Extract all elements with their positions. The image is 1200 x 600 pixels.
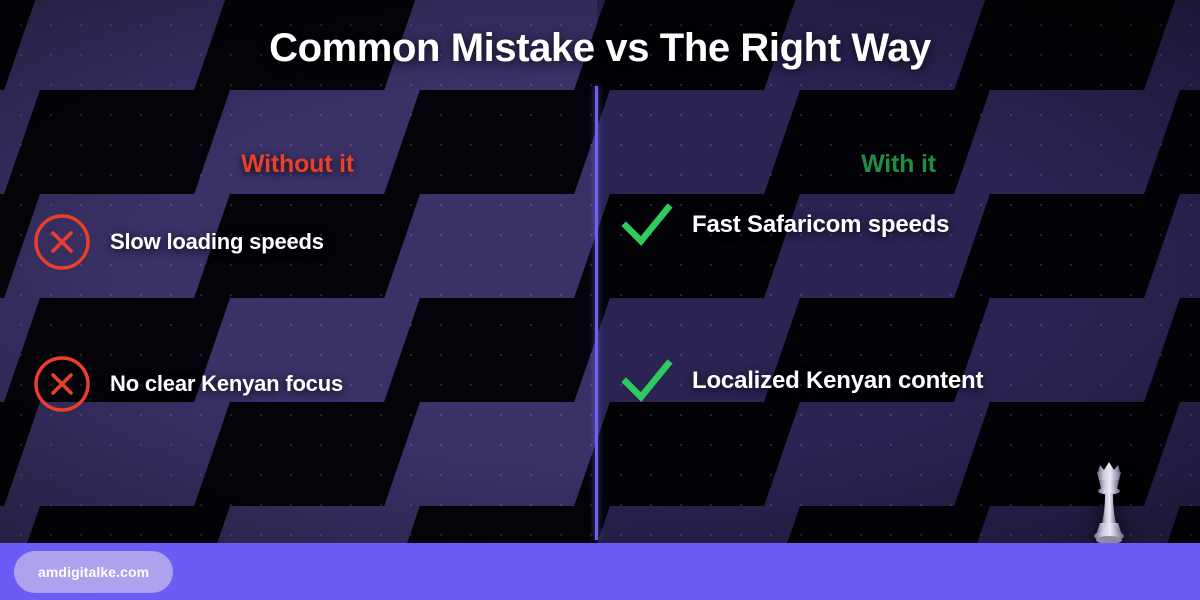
column-heading-without: Without it xyxy=(0,150,595,179)
page-title: Common Mistake vs The Right Way xyxy=(0,26,1200,71)
list-item: No clear Kenyan focus xyxy=(32,354,343,414)
board-square xyxy=(4,402,230,506)
footer-bar: amdigitalke.com xyxy=(0,543,1200,600)
brand-label: amdigitalke.com xyxy=(38,564,149,580)
list-item-label: Fast Safaricom speeds xyxy=(692,211,949,239)
board-square xyxy=(954,402,1180,506)
brand-pill[interactable]: amdigitalke.com xyxy=(14,551,173,593)
board-square xyxy=(384,402,610,506)
board-square xyxy=(954,298,1180,402)
column-heading-with: With it xyxy=(597,150,1200,179)
column-without: Without it xyxy=(0,150,595,179)
comparison-graphic: Common Mistake vs The Right Way Without … xyxy=(0,0,1200,600)
check-icon xyxy=(620,201,674,249)
board-square xyxy=(194,402,420,506)
board-square xyxy=(764,402,990,506)
circle-x-icon xyxy=(32,354,92,414)
chess-queen-icon xyxy=(1080,456,1138,548)
check-icon xyxy=(620,357,674,405)
list-item-label: Localized Kenyan content xyxy=(692,367,983,395)
board-square xyxy=(954,194,1180,298)
list-item: Fast Safaricom speeds xyxy=(620,201,949,249)
list-item-label: Slow loading speeds xyxy=(110,229,324,255)
board-square xyxy=(384,194,610,298)
board-square xyxy=(384,298,610,402)
list-item: Localized Kenyan content xyxy=(620,357,983,405)
circle-x-icon xyxy=(32,212,92,272)
list-item-label: No clear Kenyan focus xyxy=(110,371,343,397)
list-item: Slow loading speeds xyxy=(32,212,324,272)
column-with: With it xyxy=(597,150,1200,179)
